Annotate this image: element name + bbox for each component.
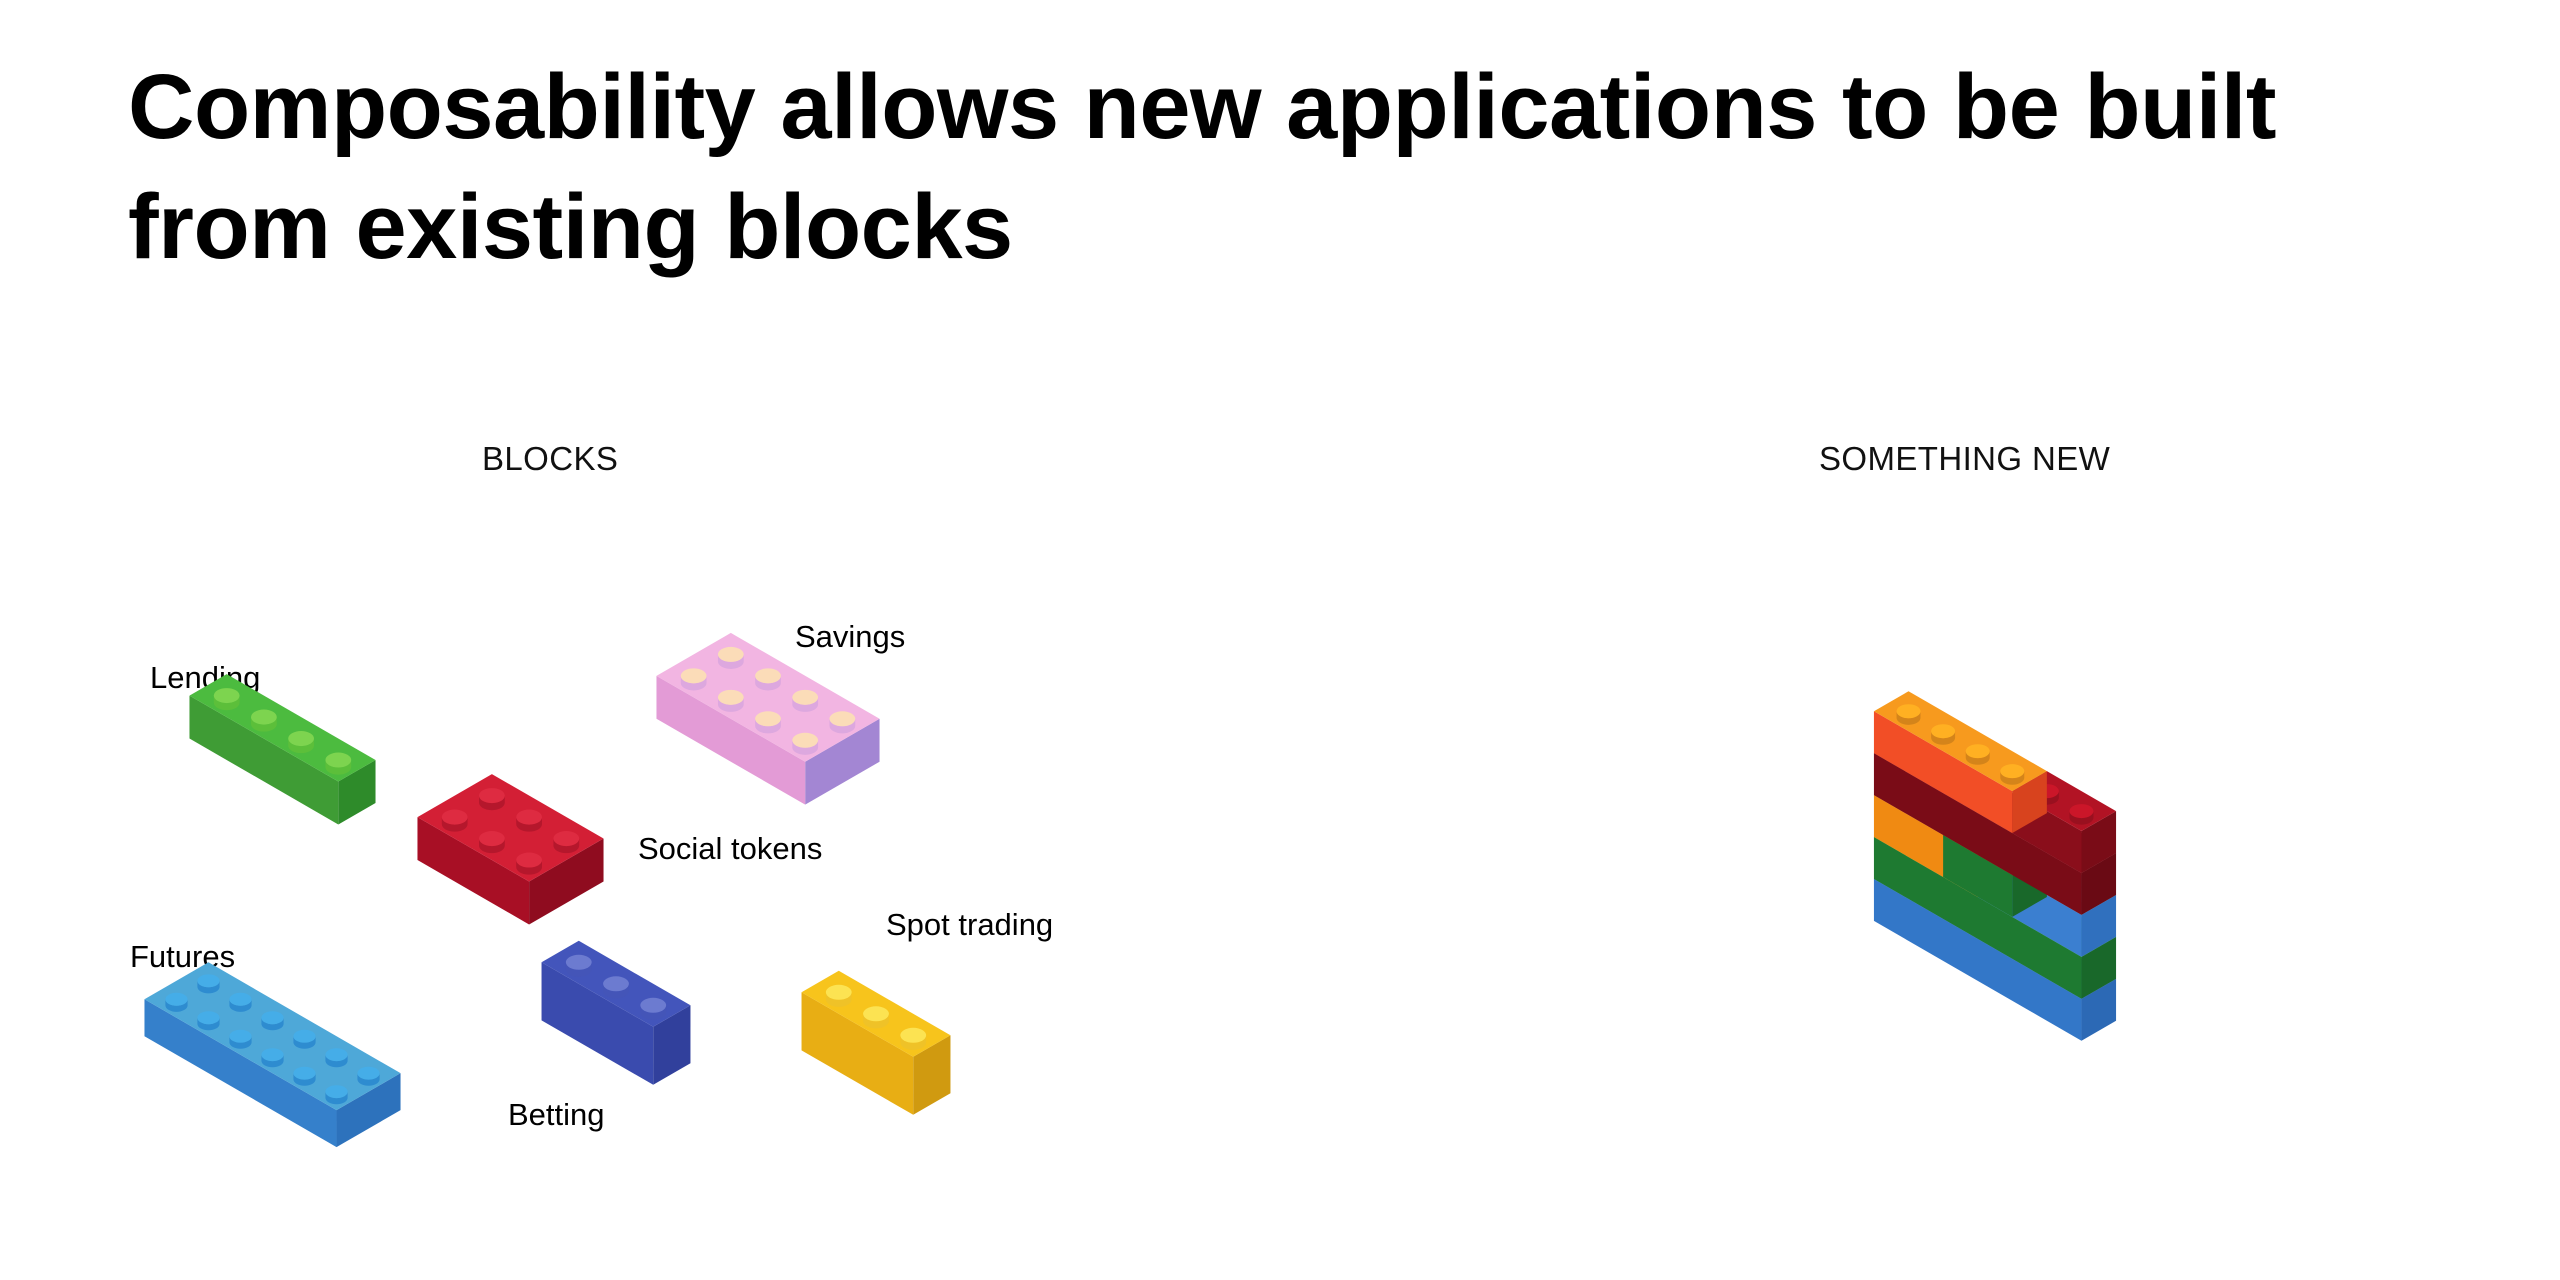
- brick-label-social-tokens: Social tokens: [638, 831, 822, 867]
- lego-brick-spot-trading: [780, 945, 972, 1132]
- lego-brick-lending: [168, 648, 397, 842]
- lego-brick-savings: [635, 607, 901, 822]
- lego-brick-futures: [126, 940, 419, 1162]
- page-title: Composability allows new applications to…: [128, 48, 2458, 287]
- column-header-blocks: BLOCKS: [482, 440, 618, 478]
- lego-composed-stack: [1838, 655, 2152, 1077]
- lego-brick-social-tokens: [396, 748, 625, 942]
- slide-canvas: Composability allows new applications to…: [0, 0, 2560, 1280]
- brick-label-betting: Betting: [508, 1097, 605, 1133]
- brick-label-spot-trading: Spot trading: [886, 907, 1053, 943]
- lego-brick-betting: [520, 915, 712, 1102]
- column-header-something-new: SOMETHING NEW: [1819, 440, 2110, 478]
